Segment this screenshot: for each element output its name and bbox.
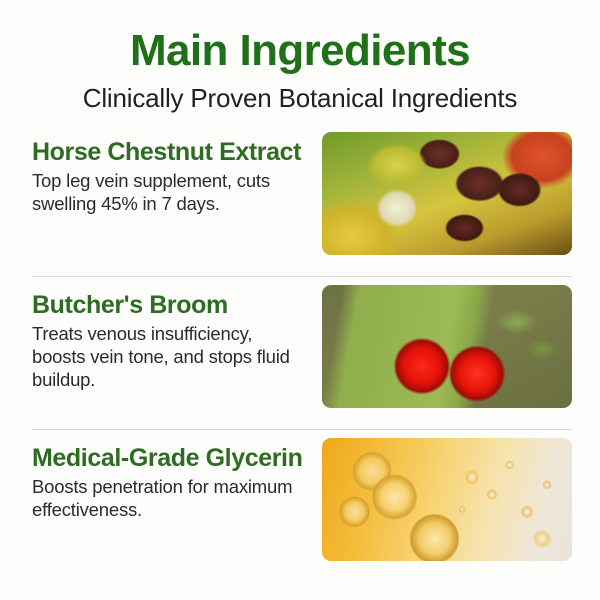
ingredient-text-block: Horse Chestnut Extract Top leg vein supp… xyxy=(32,128,310,215)
ingredient-photo-butchers-broom xyxy=(322,285,572,408)
ingredients-poster: Main Ingredients Clinically Proven Botan… xyxy=(0,0,600,600)
ingredient-name: Butcher's Broom xyxy=(32,291,310,319)
ingredient-text-block: Butcher's Broom Treats venous insufficie… xyxy=(32,281,310,391)
row-divider xyxy=(32,429,572,430)
ingredient-list: Horse Chestnut Extract Top leg vein supp… xyxy=(0,128,600,574)
row-divider xyxy=(32,276,572,277)
ingredient-name: Medical-Grade Glycerin xyxy=(32,444,310,472)
ingredient-description: Boosts penetration for maximum effective… xyxy=(32,475,310,521)
page-subtitle: Clinically Proven Botanical Ingredients xyxy=(0,82,600,114)
ingredient-row-butchers-broom: Butcher's Broom Treats venous insufficie… xyxy=(0,281,600,421)
ingredient-description: Treats venous insufficiency, boosts vein… xyxy=(32,322,310,391)
ingredient-name: Horse Chestnut Extract xyxy=(32,138,310,166)
ingredient-row-glycerin: Medical-Grade Glycerin Boosts penetratio… xyxy=(0,434,600,574)
ingredient-photo-glycerin xyxy=(322,438,572,561)
poster-header: Main Ingredients Clinically Proven Botan… xyxy=(0,0,600,114)
ingredient-row-horse-chestnut: Horse Chestnut Extract Top leg vein supp… xyxy=(0,128,600,268)
ingredient-text-block: Medical-Grade Glycerin Boosts penetratio… xyxy=(32,434,310,521)
page-title: Main Ingredients xyxy=(0,26,600,76)
ingredient-description: Top leg vein supplement, cuts swelling 4… xyxy=(32,169,310,215)
ingredient-photo-horse-chestnut xyxy=(322,132,572,255)
